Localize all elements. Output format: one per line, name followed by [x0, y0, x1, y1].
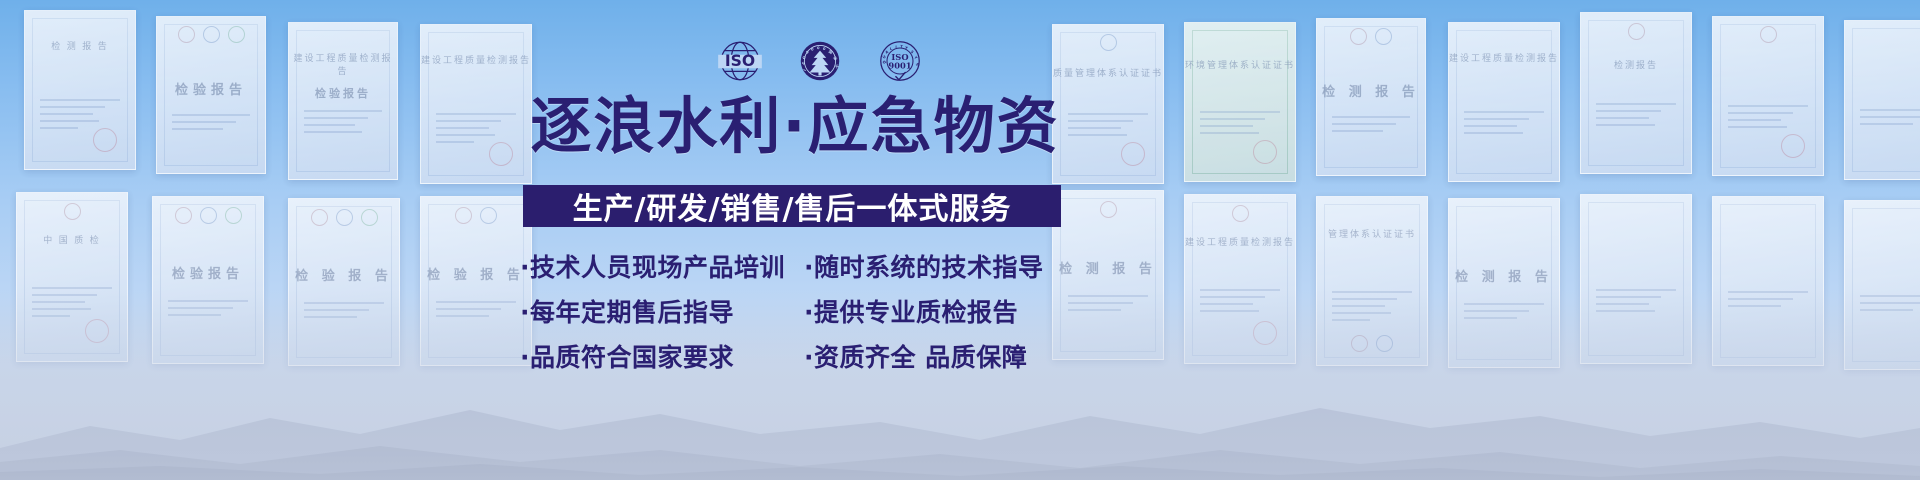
iso-9001-seal-badge-icon: ISO 9001 Q U A L I T Y S Y S [874, 35, 926, 87]
iso-9000-seal-badge-icon: I S O 9 0 0 0 国 际 认 [794, 35, 846, 87]
certification-badges: ISO I S O 9 0 0 0 国 际 [690, 34, 950, 88]
feature-item: ·资质齐全 品质保障 [804, 338, 1066, 374]
svg-text:ISO: ISO [725, 52, 755, 70]
feature-item: ·随时系统的技术指导 [804, 248, 1066, 284]
feature-item: ·品质符合国家要求 [520, 338, 804, 374]
feature-list: ·技术人员现场产品培训 ·随时系统的技术指导 ·每年定期售后指导 ·提供专业质检… [520, 243, 1066, 378]
feature-row: ·每年定期售后指导 ·提供专业质检报告 [520, 288, 1066, 333]
feature-item: ·提供专业质检报告 [804, 293, 1066, 329]
svg-text:Y: Y [903, 45, 908, 50]
svg-text:U: U [882, 55, 887, 60]
feature-item: ·每年定期售后指导 [520, 293, 804, 329]
svg-text:Y: Y [913, 55, 919, 61]
subtitle-bar: 生产/研发/销售/售后一体式服务 [523, 185, 1061, 227]
feature-item: ·技术人员现场产品培训 [520, 248, 804, 284]
subtitle-text: 生产/研发/销售/售后一体式服务 [573, 184, 1012, 228]
svg-text:9001: 9001 [888, 60, 911, 70]
promo-banner: 检 测 报 告 检验报告 建设工程质量检测报告 检验报告 建设工程质量检测报告 … [0, 0, 1920, 480]
svg-text:Q: Q [882, 60, 887, 65]
iso-globe-badge-icon: ISO [714, 35, 766, 87]
page-title: 逐浪水利·应急物资 [505, 96, 1085, 157]
banner-content: ISO I S O 9 0 0 0 国 际 [0, 0, 1920, 480]
feature-row: ·技术人员现场产品培训 ·随时系统的技术指导 [520, 243, 1066, 288]
feature-row: ·品质符合国家要求 ·资质齐全 品质保障 [520, 333, 1066, 378]
svg-text:A: A [885, 50, 889, 55]
